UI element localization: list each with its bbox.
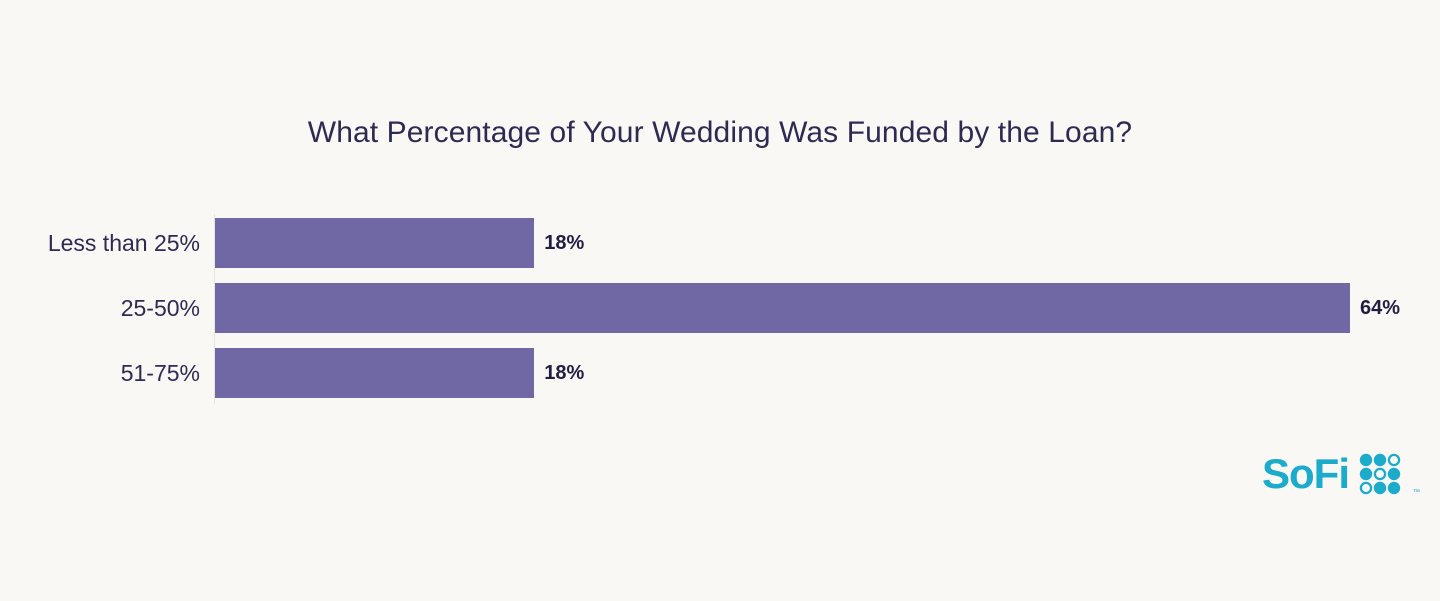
bar-track: 64% <box>215 283 1440 333</box>
bar-less-than-25 <box>215 218 534 268</box>
bar-25-50 <box>215 283 1350 333</box>
bar-value-label-25-50: 64% <box>1350 283 1400 333</box>
sofi-dot-grid-icon <box>1358 452 1402 496</box>
category-label-25-50: 25-50% <box>0 283 200 333</box>
bar-chart-figure: What Percentage of Your Wedding Was Fund… <box>0 0 1440 601</box>
bar-track: 18% <box>215 348 1440 398</box>
bar-value-label-less-than-25: 18% <box>534 218 584 268</box>
bar-row: 51-75% 18% <box>0 348 1440 398</box>
bar-51-75 <box>215 348 534 398</box>
sofi-logo: SoFi ™ <box>1262 448 1418 500</box>
trademark-symbol: ™ <box>1413 489 1420 496</box>
sofi-wordmark: SoFi <box>1262 453 1349 495</box>
bar-row: 25-50% 64% <box>0 283 1440 333</box>
bar-row: Less than 25% 18% <box>0 218 1440 268</box>
category-label-less-than-25: Less than 25% <box>0 218 200 268</box>
chart-title: What Percentage of Your Wedding Was Fund… <box>0 116 1440 150</box>
bar-value-label-51-75: 18% <box>534 348 584 398</box>
bar-track: 18% <box>215 218 1440 268</box>
category-label-51-75: 51-75% <box>0 348 200 398</box>
plot-area: Less than 25% 18% 25-50% 64% 51-75% 18% <box>0 212 1440 412</box>
